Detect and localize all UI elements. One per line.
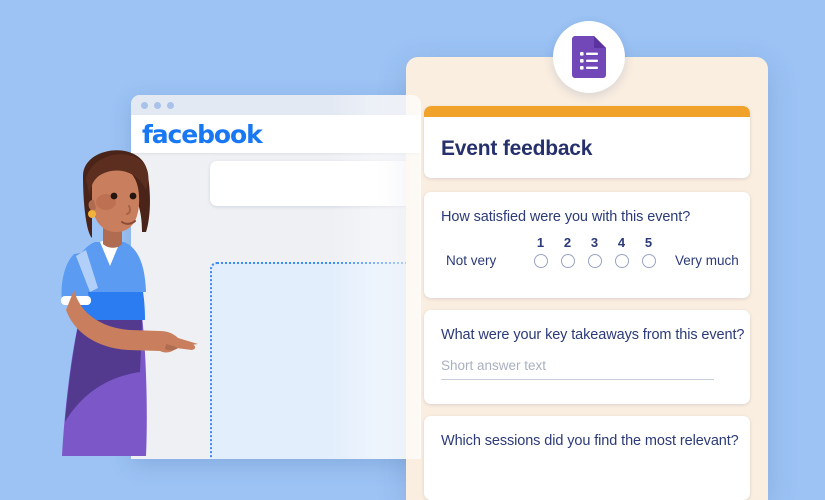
question-card-1: How satisfied were you with this event? …	[424, 192, 750, 298]
scale-right-label: Very much	[662, 253, 739, 268]
scale-radio-2[interactable]	[554, 254, 581, 268]
scale-number-3: 3	[581, 235, 608, 250]
question-3-text: Which sessions did you find the most rel…	[424, 416, 750, 449]
google-forms-panel: Event feedback How satisfied were you wi…	[406, 57, 768, 500]
form-accent-bar	[424, 106, 750, 117]
scale-options-row: Not very Very much	[441, 253, 750, 268]
question-1-text: How satisfied were you with this event?	[424, 192, 750, 225]
scale-radio-3[interactable]	[581, 254, 608, 268]
screenshot-stage: facebook	[0, 0, 825, 500]
composer-card[interactable]	[210, 161, 421, 206]
window-close-dot-icon[interactable]	[141, 102, 148, 109]
media-dropzone[interactable]	[210, 262, 421, 459]
browser-titlebar	[131, 95, 421, 115]
question-card-3: Which sessions did you find the most rel…	[424, 416, 750, 500]
eye-left	[111, 193, 118, 200]
scale-number-2: 2	[554, 235, 581, 250]
scale-number-labels: 1 2 3 4 5	[527, 235, 750, 250]
window-minimize-dot-icon[interactable]	[154, 102, 161, 109]
window-maximize-dot-icon[interactable]	[167, 102, 174, 109]
woman-pointing-illustration	[50, 138, 210, 458]
scale-number-4: 4	[608, 235, 635, 250]
form-title: Event feedback	[424, 117, 750, 161]
scale-radio-1[interactable]	[527, 254, 554, 268]
earring	[88, 210, 96, 218]
short-answer-placeholder-2: Short answer text	[441, 358, 714, 379]
short-answer-input-2[interactable]: Short answer text	[441, 358, 714, 380]
facebook-logo[interactable]: facebook	[142, 122, 262, 147]
short-answer-underline-2	[441, 379, 714, 380]
form-title-card: Event feedback	[424, 106, 750, 178]
scale-left-label: Not very	[441, 253, 527, 268]
question-2-text: What were your key takeaways from this e…	[424, 310, 750, 343]
scale-radio-group[interactable]	[527, 254, 662, 268]
question-card-2: What were your key takeaways from this e…	[424, 310, 750, 404]
google-forms-icon-badge	[553, 21, 625, 93]
facebook-header: facebook	[131, 115, 421, 153]
scale-number-1: 1	[527, 235, 554, 250]
google-forms-icon	[572, 36, 606, 78]
eye-right	[130, 193, 137, 200]
scale-radio-4[interactable]	[608, 254, 635, 268]
scale-number-5: 5	[635, 235, 662, 250]
linear-scale-1: 1 2 3 4 5 Not very Very much	[441, 235, 750, 268]
scale-radio-5[interactable]	[635, 254, 662, 268]
